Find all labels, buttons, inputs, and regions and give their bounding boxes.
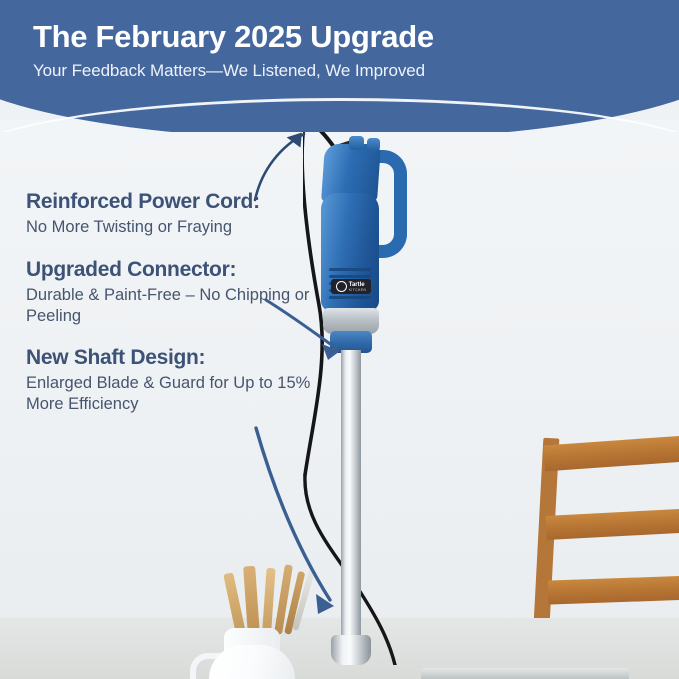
feature-list: Reinforced Power Cord: No More Twisting … — [26, 190, 326, 435]
blender-shaft — [341, 350, 361, 642]
feature-item-connector: Upgraded Connector: Durable & Paint-Free… — [26, 258, 326, 326]
feature-title: Reinforced Power Cord: — [26, 190, 326, 214]
feature-description: Enlarged Blade & Guard for Up to 15% Mor… — [26, 373, 326, 414]
page-subtitle: Your Feedback Matters—We Listened, We Im… — [33, 61, 434, 81]
feature-description: Durable & Paint-Free – No Chipping or Pe… — [26, 285, 326, 326]
speed-knob — [349, 136, 364, 150]
power-button — [367, 138, 380, 151]
pan-rim — [421, 668, 629, 679]
product-infographic: Tartle KITCHEN — [0, 0, 679, 679]
feature-item-shaft: New Shaft Design: Enlarged Blade & Guard… — [26, 346, 326, 414]
feature-title: New Shaft Design: — [26, 346, 326, 370]
brand-subtitle: KITCHEN — [349, 288, 367, 292]
blade-guard — [331, 635, 371, 665]
brand-name: Tartle — [349, 282, 367, 288]
header-banner: The February 2025 Upgrade Your Feedback … — [0, 0, 679, 132]
feature-item-power-cord: Reinforced Power Cord: No More Twisting … — [26, 190, 326, 238]
page-title: The February 2025 Upgrade — [33, 20, 434, 54]
feature-description: No More Twisting or Fraying — [26, 217, 326, 238]
brand-mark-icon — [336, 281, 347, 292]
header-text-group: The February 2025 Upgrade Your Feedback … — [33, 20, 434, 81]
brand-label: Tartle KITCHEN — [331, 279, 371, 294]
feature-title: Upgraded Connector: — [26, 258, 326, 282]
